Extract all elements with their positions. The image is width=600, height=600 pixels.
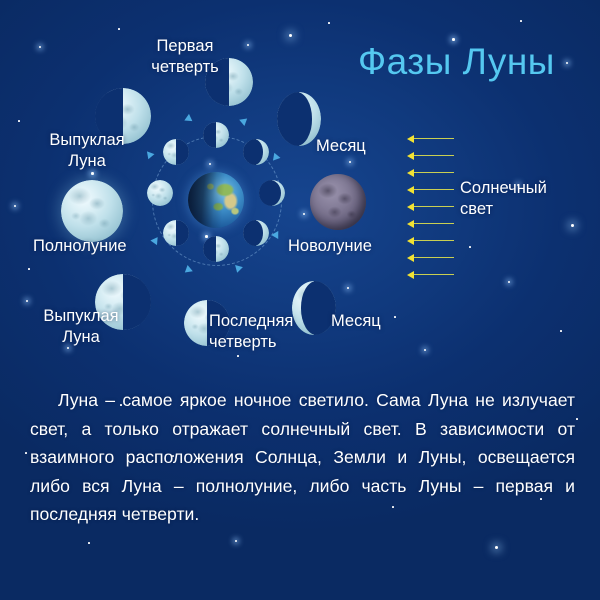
sun-ray	[414, 155, 454, 156]
label-gibbous-top: Выпуклая Луна	[28, 130, 146, 172]
star	[28, 268, 30, 270]
orbit-moon-right	[259, 180, 285, 206]
moon-surface	[61, 180, 123, 242]
moon-surface	[147, 180, 173, 206]
label-sunlight: Солнечный свет	[460, 178, 547, 220]
label-new-moon: Новолуние	[288, 236, 372, 257]
star	[235, 540, 237, 542]
moon-terminator	[245, 139, 263, 165]
moon-terminator	[259, 180, 281, 206]
orbit-arrow-icon	[150, 237, 160, 247]
star	[576, 418, 578, 420]
star	[237, 355, 239, 357]
orbit-arrow-icon	[145, 151, 155, 160]
earth-globe	[188, 172, 244, 228]
moon-phases-infographic: Фазы Луны	[0, 0, 600, 600]
star	[118, 28, 120, 30]
star	[349, 161, 351, 163]
star	[469, 246, 471, 248]
sun-ray	[414, 206, 454, 207]
label-full-moon: Полнолуние	[33, 236, 127, 257]
sun-ray-arrow-icon	[407, 152, 414, 160]
star	[289, 34, 292, 37]
label-gibbous-bottom: Выпуклая Луна	[22, 306, 140, 348]
orbit-moon-bottom	[203, 236, 229, 262]
star	[39, 46, 41, 48]
orbit-moon-top	[203, 122, 229, 148]
sun-ray-arrow-icon	[407, 254, 414, 262]
sun-ray-arrow-icon	[407, 169, 414, 177]
star	[520, 20, 522, 22]
sun-ray-arrow-icon	[407, 220, 414, 228]
phase-moon-new	[310, 174, 366, 230]
sun-ray	[414, 138, 454, 139]
orbit-moon-left	[147, 180, 173, 206]
orbit-arrow-icon	[271, 151, 281, 160]
star	[347, 287, 349, 289]
sun-ray-arrow-icon	[407, 186, 414, 194]
sun-ray-arrow-icon	[407, 271, 414, 279]
sun-ray	[414, 223, 454, 224]
moon-terminator	[171, 139, 181, 165]
sun-ray	[414, 240, 454, 241]
label-crescent-bottom: Месяц	[331, 311, 381, 332]
orbit-moon-top-right	[243, 139, 269, 165]
star	[560, 330, 562, 332]
star	[26, 300, 28, 302]
description-paragraph: Луна – самое яркое ночное светило. Сама …	[30, 386, 575, 529]
phase-moon-crescent-waxing	[277, 92, 321, 146]
orbit-moon-bottom-left	[163, 220, 189, 246]
earth-night-side	[188, 172, 244, 228]
star	[495, 546, 498, 549]
star	[88, 542, 90, 544]
label-last-quarter: Последняя четверть	[209, 311, 293, 353]
sun-ray-arrow-icon	[407, 135, 414, 143]
phase-moon-crescent-waning	[292, 281, 336, 335]
moon-terminator	[245, 220, 263, 246]
label-crescent-top: Месяц	[316, 136, 366, 157]
star	[571, 224, 574, 227]
sun-ray	[414, 274, 454, 275]
sun-ray	[414, 257, 454, 258]
orbit-moon-top-left	[163, 139, 189, 165]
orbit-arrow-icon	[185, 265, 194, 275]
label-first-quarter: Первая четверть	[130, 36, 240, 78]
star	[91, 172, 94, 175]
moon-terminator	[171, 220, 181, 246]
star	[14, 205, 16, 207]
sun-ray-arrow-icon	[407, 237, 414, 245]
sun-ray	[414, 189, 454, 190]
orbit-moon-bottom-right	[243, 220, 269, 246]
orbit-arrow-icon	[235, 263, 244, 273]
star	[247, 44, 249, 46]
star	[566, 62, 568, 64]
star	[328, 22, 330, 24]
orbit-arrow-icon	[238, 116, 247, 126]
orbit-arrow-icon	[271, 229, 281, 239]
moon-terminator	[281, 92, 313, 146]
star	[424, 349, 426, 351]
star	[25, 452, 27, 454]
sun-ray-arrow-icon	[407, 203, 414, 211]
star	[394, 316, 396, 318]
orbit-arrow-icon	[183, 114, 193, 124]
star	[508, 281, 510, 283]
sun-ray	[414, 172, 454, 173]
phase-moon-full	[61, 180, 123, 242]
star	[303, 213, 305, 215]
page-title: Фазы Луны	[358, 41, 555, 83]
star	[18, 120, 20, 122]
